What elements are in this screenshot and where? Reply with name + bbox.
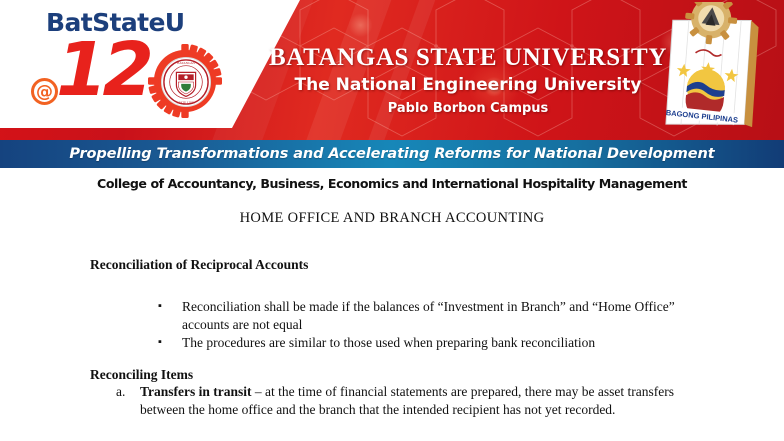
section-heading-reconciliation: Reconciliation of Reciprocal Accounts (90, 257, 308, 273)
list-item: a. Transfers in transit – at the time of… (116, 383, 696, 418)
page-title: HOME OFFICE AND BRANCH ACCOUNTING (0, 210, 784, 227)
at-symbol-icon: @ (31, 78, 58, 105)
list-item-text: Transfers in transit – at the time of fi… (140, 383, 696, 418)
tagline-text: Propelling Transformations and Accelerat… (69, 146, 714, 162)
svg-text:BATANGAS: BATANGAS (177, 61, 195, 65)
college-name: College of Accountancy, Business, Econom… (0, 176, 784, 191)
square-bullet-icon: ▪ (158, 298, 182, 316)
tagline-bar: Propelling Transformations and Accelerat… (0, 140, 784, 170)
university-title-block: BATANGAS STATE UNIVERSITY The National E… (258, 44, 678, 119)
campus-name: Pablo Borbon Campus (258, 99, 678, 119)
list-item-term: Transfers in transit (140, 384, 252, 399)
reconciling-items-list: a. Transfers in transit – at the time of… (116, 383, 696, 418)
list-item-text: Reconciliation shall be made if the bala… (182, 298, 678, 333)
svg-text:STATE UNIV: STATE UNIV (176, 101, 196, 105)
square-bullet-icon: ▪ (158, 334, 182, 352)
anniversary-number: 12 (56, 33, 149, 107)
list-item-marker: a. (116, 383, 140, 401)
university-subtitle: The National Engineering University (258, 73, 678, 97)
bagong-pilipinas-logo: BAGONG PILIPINAS (650, 2, 762, 134)
page-header: BatStateU @ 12 (0, 0, 784, 140)
university-seal-icon: BATANGAS STATE UNIV (161, 57, 211, 107)
document-body: College of Accountancy, Business, Econom… (0, 172, 784, 441)
list-item: ▪ The procedures are similar to those us… (158, 334, 678, 352)
list-item-text: The procedures are similar to those used… (182, 334, 678, 352)
university-name: BATANGAS STATE UNIVERSITY (258, 44, 678, 72)
section-heading-reconciling-items: Reconciling Items (90, 367, 193, 383)
reconciliation-bullet-list: ▪ Reconciliation shall be made if the ba… (158, 298, 678, 353)
batstateu-logo: BatStateU @ 12 (28, 8, 244, 130)
list-item: ▪ Reconciliation shall be made if the ba… (158, 298, 678, 333)
